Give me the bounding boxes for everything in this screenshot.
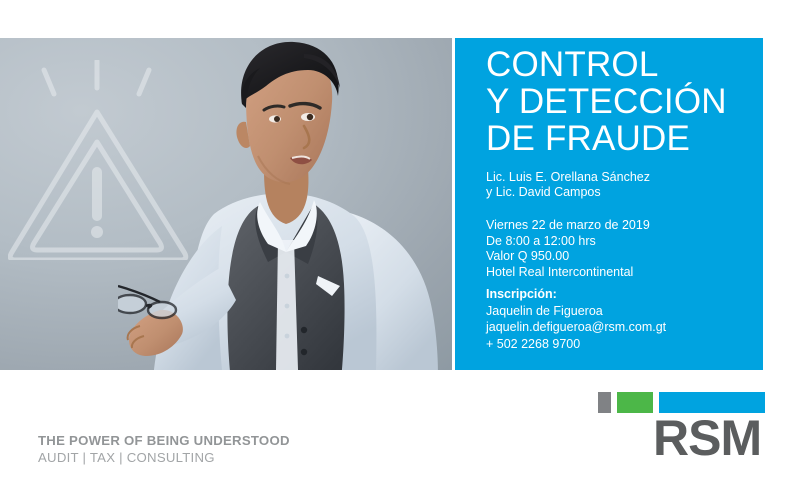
registration-phone[interactable]: + 502 2268 9700 (486, 336, 758, 353)
speaker-line-2: y Lic. David Campos (486, 185, 758, 200)
logo-bar-green (617, 392, 653, 413)
speaker-line-1: Lic. Luis E. Orellana Sánchez (486, 170, 758, 185)
logo-wordmark: RSM (653, 412, 761, 464)
tagline-block: THE POWER OF BEING UNDERSTOOD AUDIT | TA… (38, 432, 398, 466)
title-line-2: Y DETECCIÓN (486, 83, 758, 120)
person-photo (118, 38, 452, 370)
event-details-block: Viernes 22 de marzo de 2019 De 8:00 a 12… (486, 218, 758, 280)
event-title: CONTROL Y DETECCIÓN DE FRAUDE (486, 46, 758, 157)
event-date: Viernes 22 de marzo de 2019 (486, 218, 758, 234)
event-venue: Hotel Real Intercontinental (486, 265, 758, 281)
hero-photo (0, 38, 452, 370)
registration-email[interactable]: jaquelin.defigueroa@rsm.com.gt (486, 319, 758, 336)
logo-bar-gray (598, 392, 611, 413)
rsm-logo: RSM (595, 390, 770, 470)
title-line-1: CONTROL (486, 46, 758, 83)
event-time: De 8:00 a 12:00 hrs (486, 234, 758, 250)
info-panel: CONTROL Y DETECCIÓN DE FRAUDE Lic. Luis … (455, 38, 763, 370)
event-price: Valor Q 950.00 (486, 249, 758, 265)
registration-block: Inscripción: Jaquelin de Figueroa jaquel… (486, 286, 758, 352)
registration-heading: Inscripción: (486, 286, 758, 303)
event-flyer: CONTROL Y DETECCIÓN DE FRAUDE Lic. Luis … (0, 0, 800, 500)
tagline-main: THE POWER OF BEING UNDERSTOOD (38, 432, 398, 449)
title-line-3: DE FRAUDE (486, 120, 758, 157)
registration-contact-name: Jaquelin de Figueroa (486, 303, 758, 320)
tagline-services: AUDIT | TAX | CONSULTING (38, 449, 398, 466)
speakers-block: Lic. Luis E. Orellana Sánchez y Lic. Dav… (486, 170, 758, 200)
footer: THE POWER OF BEING UNDERSTOOD AUDIT | TA… (0, 370, 800, 500)
